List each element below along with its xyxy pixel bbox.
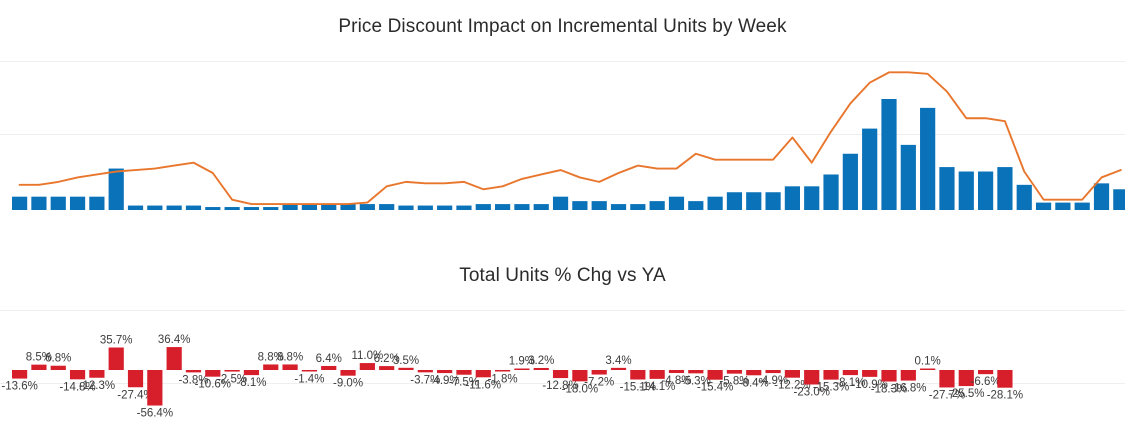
bar-total-units-chg bbox=[89, 370, 104, 378]
bar-total-units-chg bbox=[70, 370, 85, 379]
bar-incremental-units bbox=[128, 206, 143, 210]
bar-value-label: -16.8% bbox=[890, 383, 926, 395]
bar-incremental-units bbox=[244, 207, 259, 210]
bar-value-label: -13.6% bbox=[1, 381, 37, 393]
bar-incremental-units bbox=[901, 145, 916, 210]
bar-total-units-chg bbox=[167, 347, 182, 370]
bar-incremental-units bbox=[225, 207, 240, 210]
section-title: Total Units % Chg vs YA bbox=[0, 245, 1125, 287]
bar-incremental-units bbox=[476, 204, 491, 210]
bar-incremental-units bbox=[514, 204, 529, 210]
bar-value-label: -9.0% bbox=[333, 378, 363, 390]
bar-incremental-units bbox=[823, 174, 838, 210]
bar-value-label: -28.1% bbox=[987, 390, 1023, 402]
bar-incremental-units bbox=[843, 154, 858, 210]
page-title: Price Discount Impact on Incremental Uni… bbox=[0, 0, 1125, 38]
bar-incremental-units bbox=[495, 204, 510, 210]
bar-value-label: -8.1% bbox=[236, 377, 266, 389]
bar-incremental-units bbox=[630, 204, 645, 210]
bar-value-label: 6.8% bbox=[45, 353, 71, 365]
bar-incremental-units bbox=[1036, 203, 1051, 210]
bar-value-label: 36.4% bbox=[158, 334, 191, 346]
bar-incremental-units bbox=[360, 204, 375, 210]
bar-incremental-units bbox=[959, 172, 974, 210]
bar-total-units-chg bbox=[997, 370, 1012, 388]
bar-total-units-chg bbox=[843, 370, 858, 375]
bar-incremental-units bbox=[398, 206, 413, 210]
bar-incremental-units bbox=[1055, 203, 1070, 210]
bar-total-units-chg bbox=[978, 370, 993, 374]
bar-value-label: 8.8% bbox=[277, 351, 303, 363]
bar-value-label: -1.4% bbox=[294, 374, 324, 386]
bar-incremental-units bbox=[553, 197, 568, 210]
bar-total-units-chg bbox=[244, 370, 259, 375]
incremental-units-plot-area bbox=[0, 55, 1125, 215]
bar-total-units-chg bbox=[12, 370, 27, 379]
bar-total-units-chg bbox=[727, 370, 742, 374]
bar-total-units-chg bbox=[456, 370, 471, 375]
bar-value-label: 6.4% bbox=[316, 353, 342, 365]
bar-incremental-units bbox=[881, 99, 896, 210]
bar-total-units-chg bbox=[901, 370, 916, 381]
bar-value-label: 3.2% bbox=[528, 355, 554, 367]
bar-total-units-chg bbox=[282, 364, 297, 370]
bar-total-units-chg bbox=[51, 366, 66, 370]
bar-total-units-chg bbox=[302, 370, 317, 372]
bar-incremental-units bbox=[785, 186, 800, 210]
bar-incremental-units bbox=[939, 167, 954, 210]
total-units-chg-series-layer: -13.6%8.5%6.8%-14.8%-12.3%35.7%-27.4%-56… bbox=[0, 308, 1125, 442]
bar-incremental-units bbox=[1094, 183, 1109, 210]
bar-value-label: 0.1% bbox=[915, 356, 941, 368]
bar-incremental-units bbox=[1017, 185, 1032, 210]
bar-value-label: -7.2% bbox=[584, 377, 614, 389]
bar-incremental-units bbox=[147, 206, 162, 210]
bar-incremental-units bbox=[746, 192, 761, 210]
bar-total-units-chg bbox=[939, 370, 954, 387]
bar-total-units-chg bbox=[669, 370, 684, 373]
bar-total-units-chg bbox=[765, 370, 780, 373]
bar-total-units-chg bbox=[862, 370, 877, 377]
bar-total-units-chg bbox=[147, 370, 162, 406]
bar-total-units-chg bbox=[688, 370, 703, 373]
bar-incremental-units bbox=[418, 206, 433, 210]
bar-incremental-units bbox=[1113, 189, 1125, 210]
line-discount-depth bbox=[20, 72, 1121, 204]
bar-incremental-units bbox=[592, 201, 607, 210]
bar-value-label: -12.3% bbox=[79, 380, 115, 392]
bar-total-units-chg bbox=[109, 348, 124, 370]
bar-incremental-units bbox=[1075, 203, 1090, 210]
bar-incremental-units bbox=[997, 167, 1012, 210]
bar-incremental-units bbox=[379, 204, 394, 210]
bar-total-units-chg bbox=[495, 370, 510, 372]
bar-value-label: 3.4% bbox=[605, 355, 631, 367]
bar-incremental-units bbox=[650, 201, 665, 210]
bar-total-units-chg bbox=[881, 370, 896, 382]
bar-incremental-units bbox=[205, 207, 220, 210]
bar-total-units-chg bbox=[534, 368, 549, 370]
bar-total-units-chg bbox=[611, 368, 626, 370]
bar-incremental-units bbox=[437, 206, 452, 210]
bar-incremental-units bbox=[534, 204, 549, 210]
bar-incremental-units bbox=[727, 192, 742, 210]
bar-incremental-units bbox=[109, 169, 124, 210]
bar-incremental-units bbox=[12, 197, 27, 210]
bar-incremental-units bbox=[611, 204, 626, 210]
bar-incremental-units bbox=[51, 197, 66, 210]
bar-total-units-chg bbox=[514, 369, 529, 371]
bar-value-label: -1.8% bbox=[488, 374, 518, 386]
bar-incremental-units bbox=[862, 129, 877, 210]
bar-total-units-chg bbox=[398, 368, 413, 370]
bar-incremental-units bbox=[688, 201, 703, 210]
bar-incremental-units bbox=[70, 197, 85, 210]
bar-total-units-chg bbox=[340, 370, 355, 376]
bar-incremental-units bbox=[186, 206, 201, 210]
bar-value-label: -25.5% bbox=[948, 388, 984, 400]
bar-value-label: -6.6% bbox=[971, 376, 1001, 388]
incremental-units-chart-panel: Price Discount Impact on Incremental Uni… bbox=[0, 0, 1125, 245]
bar-total-units-chg bbox=[31, 365, 46, 370]
total-units-chg-plot-area: -13.6%8.5%6.8%-14.8%-12.3%35.7%-27.4%-56… bbox=[0, 308, 1125, 442]
bar-total-units-chg bbox=[630, 370, 645, 380]
bar-incremental-units bbox=[669, 197, 684, 210]
incremental-units-series-layer bbox=[0, 55, 1125, 215]
bar-incremental-units bbox=[978, 172, 993, 210]
bar-value-label: 35.7% bbox=[100, 335, 133, 347]
bar-total-units-chg bbox=[553, 370, 568, 378]
bar-incremental-units bbox=[708, 197, 723, 210]
bar-incremental-units bbox=[765, 192, 780, 210]
bar-incremental-units bbox=[456, 206, 471, 210]
bar-total-units-chg bbox=[418, 370, 433, 372]
bar-total-units-chg bbox=[186, 370, 201, 372]
bar-total-units-chg bbox=[437, 370, 452, 373]
bar-value-label: 3.5% bbox=[393, 355, 419, 367]
bar-total-units-chg bbox=[785, 370, 800, 378]
bar-incremental-units bbox=[920, 108, 935, 210]
bar-total-units-chg bbox=[321, 366, 336, 370]
bar-total-units-chg bbox=[225, 370, 240, 372]
bar-total-units-chg bbox=[263, 364, 278, 370]
bar-total-units-chg bbox=[920, 369, 935, 371]
bar-incremental-units bbox=[31, 197, 46, 210]
bar-total-units-chg bbox=[592, 370, 607, 375]
bar-incremental-units bbox=[804, 186, 819, 210]
bar-value-label: -56.4% bbox=[137, 408, 173, 420]
bar-incremental-units bbox=[167, 206, 182, 210]
bar-incremental-units bbox=[263, 207, 278, 210]
bar-total-units-chg bbox=[128, 370, 143, 387]
bar-incremental-units bbox=[89, 197, 104, 210]
bar-incremental-units bbox=[572, 201, 587, 210]
